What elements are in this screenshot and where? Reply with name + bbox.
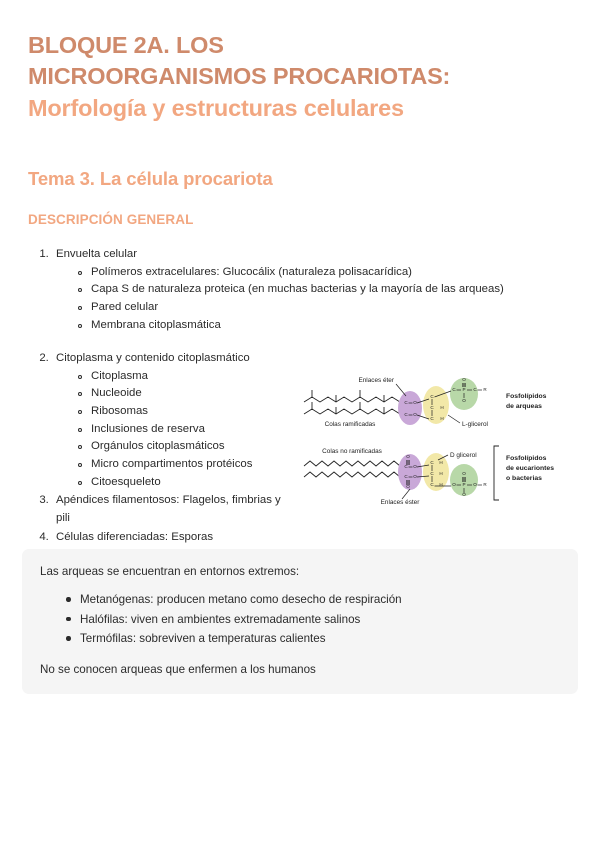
svg-text:O: O	[413, 474, 417, 479]
list-item: Polímeros extracelulares: Glucocálix (na…	[77, 264, 552, 282]
svg-text:O: O	[413, 464, 417, 469]
archaea-caption-line-2: de arqueas	[506, 403, 542, 410]
bacteria-caption-line-1: Fosfolípidos	[506, 455, 547, 462]
glycerol-highlight-icon-2	[423, 453, 449, 491]
unbranched-tails-icon	[304, 461, 400, 477]
tema-heading: Tema 3. La célula procariota	[28, 168, 273, 190]
list-item: Halófilas: viven en ambientes extremadam…	[66, 611, 560, 628]
svg-text:H: H	[440, 416, 443, 421]
list-item: Micro compartimentos protéicos	[77, 456, 296, 474]
ether-bond-highlight-icon	[398, 391, 422, 425]
outline-item-2-sublist: Citoplasma Nucleoide Ribosomas Inclusion…	[56, 368, 296, 492]
outline-item-4: Células diferenciadas: Esporas	[52, 529, 296, 547]
archaea-caption-line-1: Fosfolípidos	[506, 393, 547, 400]
outline-item-1-label: Envuelta celular	[56, 248, 137, 260]
list-item: Capa S de naturaleza proteica (en muchas…	[77, 281, 552, 299]
svg-text:O: O	[473, 482, 477, 487]
outline-item-1-sublist: Polímeros extracelulares: Glucocálix (na…	[56, 264, 552, 335]
outline-item-1: Envuelta celular Polímeros extracelulare…	[52, 246, 552, 334]
bacteria-caption-line-3: o bacterias	[506, 475, 542, 482]
svg-text:O: O	[462, 377, 466, 382]
svg-text:H: H	[439, 471, 442, 476]
ester-bond-highlight-icon	[398, 454, 422, 490]
list-item: Ribosomas	[77, 403, 296, 421]
list-item: Membrana citoplasmática	[77, 317, 552, 335]
svg-text:H: H	[439, 460, 442, 465]
l-glycerol-label: L-glicerol	[462, 421, 488, 428]
list-item: Inclusiones de reserva	[77, 421, 296, 439]
page-title: BLOQUE 2A. LOS MICROORGANISMOS PROCARIOT…	[28, 30, 576, 124]
list-item: Termófilas: sobreviven a temperaturas ca…	[66, 630, 560, 647]
title-subtitle: Morfología y estructuras celulares	[28, 93, 576, 124]
svg-text:R: R	[483, 387, 487, 392]
svg-text:H: H	[440, 405, 443, 410]
svg-text:P: P	[462, 387, 465, 392]
outline-item-2-label: Citoplasma y contenido citoplasmático	[56, 352, 250, 364]
list-item: Orgánulos citoplasmáticos	[77, 438, 296, 456]
svg-text:R: R	[483, 482, 487, 487]
archaea-phospholipid-group: CO CO C CH CH CPC OO R	[304, 377, 547, 428]
grouping-bracket-icon	[494, 446, 499, 500]
section-heading-descripcion-general: DESCRIPCIÓN GENERAL	[28, 212, 193, 227]
phospholipid-diagram: CO CO C CH CH CPC OO R	[296, 372, 590, 528]
document-page: BLOQUE 2A. LOS MICROORGANISMOS PROCARIOT…	[0, 0, 600, 848]
branched-tails-label: Colas ramificadas	[325, 421, 376, 428]
title-line-1: BLOQUE 2A. LOS	[28, 30, 576, 61]
svg-text:P: P	[462, 482, 465, 487]
callout-bullet-list: Metanógenas: producen metano como desech…	[40, 591, 560, 647]
unbranched-tails-label: Colas no ramificadas	[322, 448, 382, 455]
branched-tails-icon	[304, 390, 400, 414]
list-item: Citoesqueleto	[77, 474, 296, 492]
bacteria-phospholipid-group: O CO CO O CH CH CH OPO OO R	[304, 446, 554, 506]
bacteria-caption-line-2: de eucariontes	[506, 465, 554, 472]
outline-section-1: Envuelta celular Polímeros extracelulare…	[28, 246, 552, 335]
list-item: Pared celular	[77, 299, 552, 317]
svg-text:O: O	[413, 400, 417, 405]
ester-bond-label: Enlaces éster	[381, 499, 421, 506]
svg-text:O: O	[406, 454, 410, 459]
svg-text:O: O	[462, 398, 466, 403]
ether-bond-label: Enlaces éter	[358, 377, 394, 384]
outline-item-2: Citoplasma y contenido citoplasmático Ci…	[52, 350, 296, 491]
outline-item-3: Apéndices filamentosos: Flagelos, fimbri…	[52, 492, 296, 527]
outline-section-2: Citoplasma y contenido citoplasmático Ci…	[28, 350, 296, 547]
list-item: Citoplasma	[77, 368, 296, 386]
svg-text:O: O	[462, 471, 466, 476]
list-item: Metanógenas: producen metano como desech…	[66, 591, 560, 608]
archaea-callout-box: Las arqueas se encuentran en entornos ex…	[22, 549, 578, 694]
title-line-2: MICROORGANISMOS PROCARIOTAS:	[28, 61, 576, 92]
svg-text:O: O	[452, 482, 456, 487]
list-item: Nucleoide	[77, 385, 296, 403]
callout-intro: Las arqueas se encuentran en entornos ex…	[40, 563, 560, 580]
callout-closing: No se conocen arqueas que enfermen a los…	[40, 661, 560, 678]
svg-text:O: O	[413, 412, 417, 417]
d-glycerol-label: D glicerol	[450, 452, 477, 459]
